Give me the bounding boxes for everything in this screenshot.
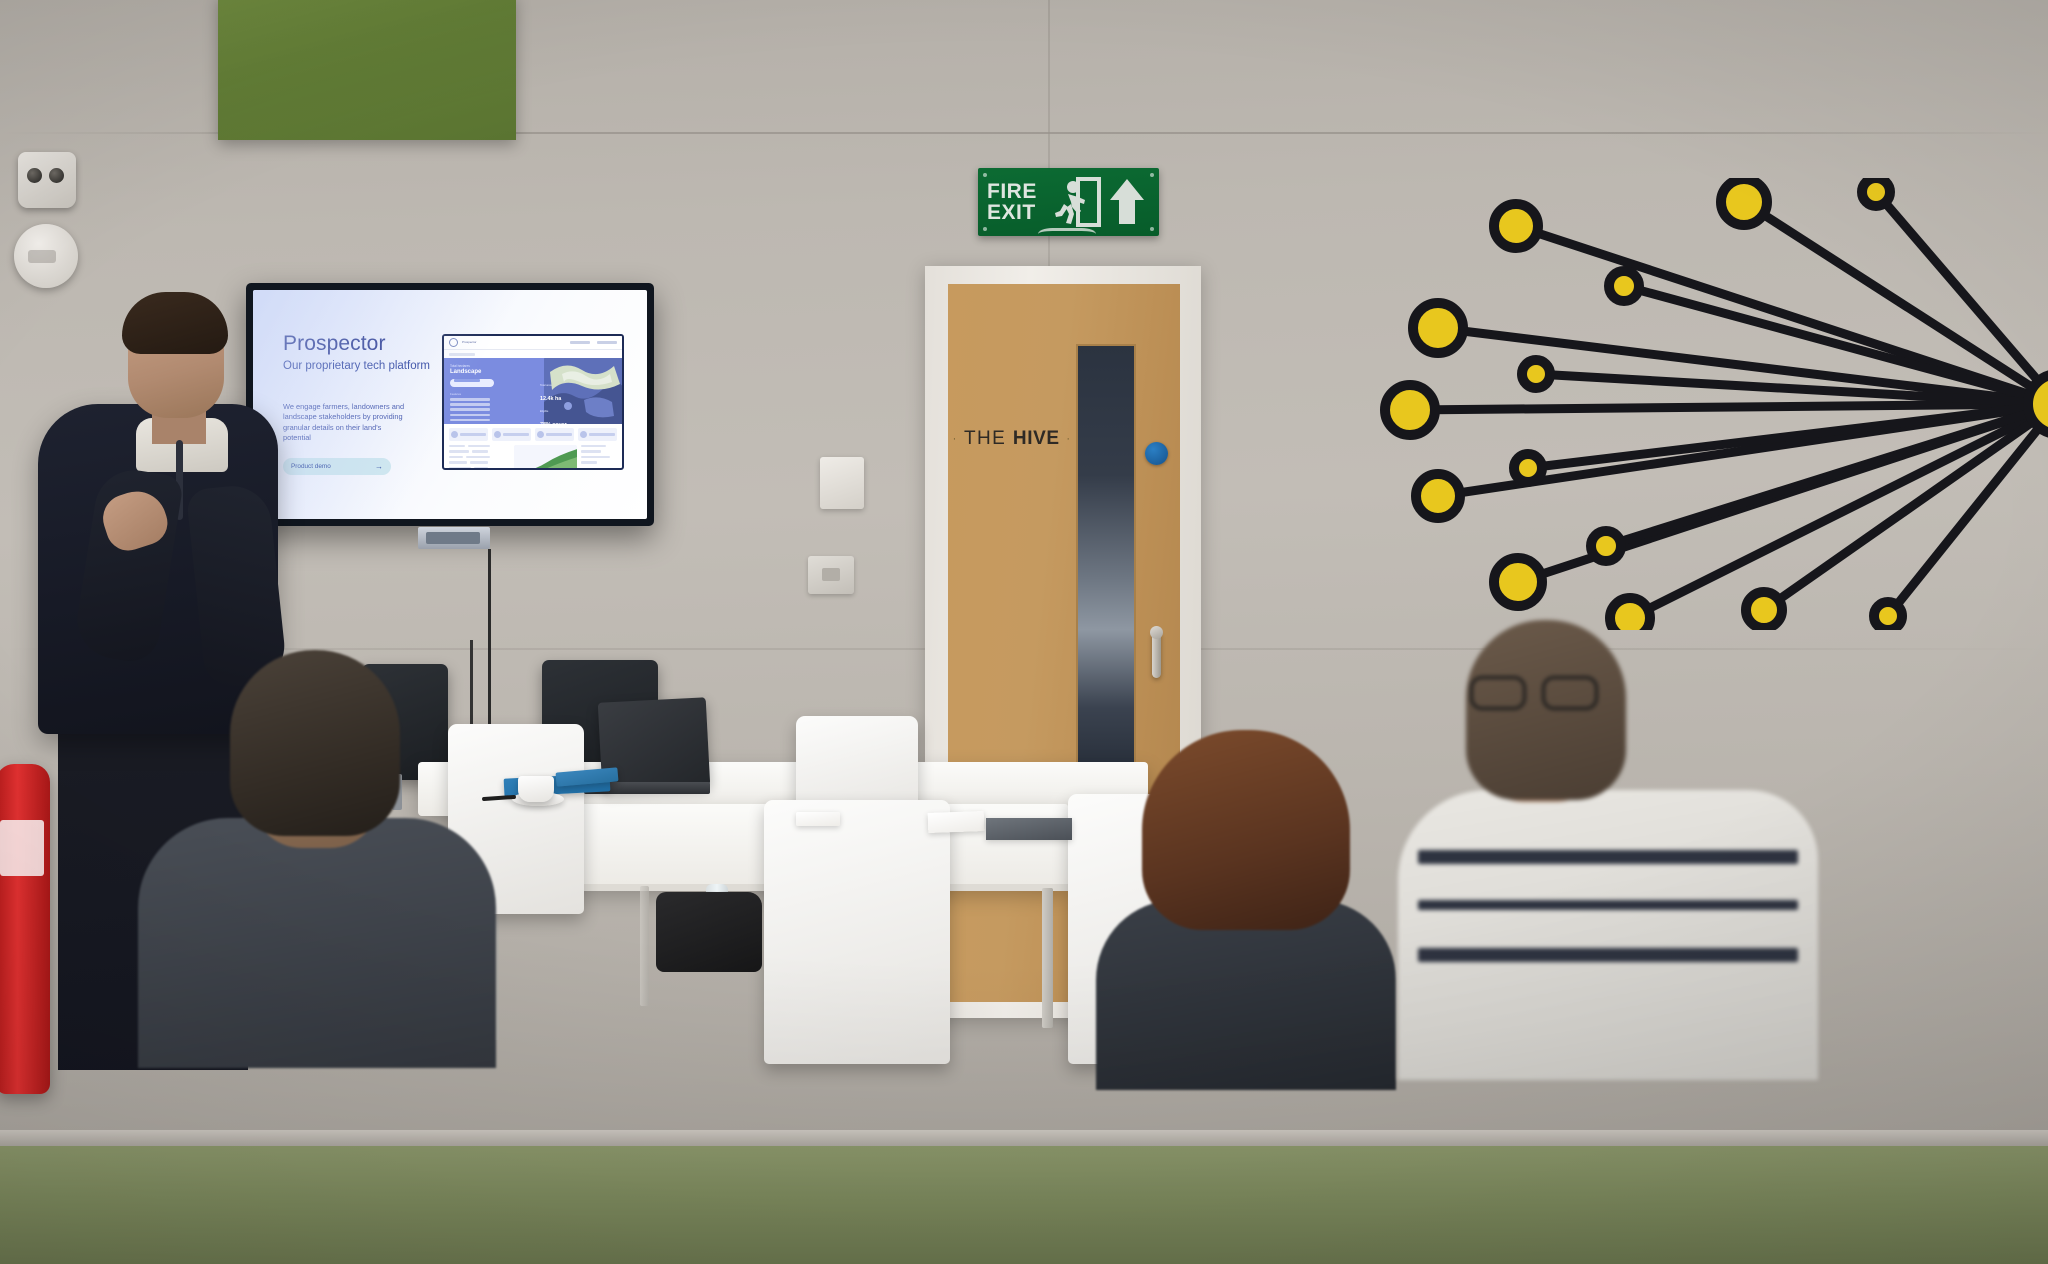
hero-stat-eligible-label: Eligible — [540, 410, 567, 413]
skirting-board — [0, 1130, 2048, 1146]
gauge-icon — [537, 431, 544, 438]
door-vision-panel — [1076, 344, 1136, 778]
app-nav[interactable] — [570, 341, 617, 344]
app-card[interactable] — [535, 428, 574, 441]
app-card[interactable] — [578, 428, 617, 441]
attendee-3-body — [1398, 790, 1818, 1080]
app-topbar: Prospector — [444, 336, 622, 350]
smoke-detector-icon — [14, 224, 78, 288]
white-chair-center-front[interactable] — [764, 800, 950, 1064]
acoustic-wall-panel — [218, 0, 516, 140]
document-icon[interactable] — [796, 812, 840, 826]
hero-stat-total-value: 12.4k ha — [540, 396, 561, 402]
app-bottom-row — [444, 445, 622, 470]
hero-stat-total-label: Total area — [540, 384, 567, 387]
hero-stats: Total area 12.4k ha Eligible 78% cover — [540, 384, 567, 424]
coffee-cup-icon[interactable] — [518, 776, 554, 802]
document-icon-2[interactable] — [928, 811, 985, 833]
running-man-icon — [1049, 174, 1103, 230]
door-label-prefix: THE — [964, 428, 1006, 449]
door-handle[interactable] — [1152, 630, 1161, 678]
hero-kicker: Total hectares — [450, 364, 534, 368]
app-area-chart — [514, 445, 578, 470]
slide-title: Prospector — [283, 332, 386, 356]
door-label-emphasis: HIVE — [1013, 428, 1060, 449]
door-sticker — [1145, 442, 1168, 465]
attendee-1-head — [230, 650, 400, 836]
door-label-dot-right: · — [1066, 433, 1071, 445]
table-leg — [640, 886, 649, 1006]
presentation-slide: Prospector Our proprietary tech platform… — [253, 290, 647, 519]
arrow-right-icon: → — [375, 462, 383, 471]
display-cable — [488, 549, 491, 729]
light-switch-icon[interactable] — [808, 556, 854, 594]
deed-icon — [580, 431, 587, 438]
tag-icon — [451, 431, 458, 438]
slide-body-text: We engage farmers, landowners and landsc… — [283, 402, 411, 444]
carpet-floor — [0, 1144, 2048, 1264]
hero-list-label: Features — [450, 392, 534, 396]
slide-subtitle: Our proprietary tech platform — [283, 360, 430, 372]
presenter-hair — [122, 292, 228, 354]
extinguisher-label — [0, 820, 44, 876]
glasses-icon — [1470, 676, 1598, 706]
app-card-row — [444, 424, 622, 445]
display-cable-2 — [470, 640, 473, 730]
meeting-room-photo: FIRE EXIT · THE HIVE · — [0, 0, 2048, 1264]
wall-control-box-icon[interactable] — [820, 457, 864, 509]
backpack-icon[interactable] — [656, 892, 762, 972]
app-brand: Prospector — [462, 341, 477, 344]
sign-wire — [1038, 228, 1096, 240]
door-label-dot-left: · — [953, 433, 958, 445]
hero-left-column: Total hectares Landscape Features — [450, 364, 534, 424]
door-label: · THE HIVE · — [948, 428, 1076, 450]
app-breadcrumb — [444, 350, 622, 358]
table-leg — [1042, 888, 1053, 1028]
attendee-1-body — [138, 818, 496, 1068]
sunburst-wall-art — [1368, 178, 2048, 630]
app-logo-icon — [449, 338, 458, 347]
app-card[interactable] — [449, 428, 488, 441]
app-screenshot: Prospector — [442, 334, 624, 470]
fire-extinguisher-icon[interactable] — [0, 764, 50, 1094]
attendee-3-head — [1466, 620, 1626, 800]
ceiling-sensor-icon — [18, 152, 76, 208]
hero-feature-list: Features — [450, 392, 534, 421]
tablet-icon[interactable] — [986, 818, 1072, 840]
hero-stat-total: Total area 12.4k ha — [540, 384, 567, 405]
fire-exit-sign: FIRE EXIT — [978, 168, 1159, 236]
hero-stat-eligible-value: 78% cover — [540, 422, 567, 424]
app-card[interactable] — [492, 428, 531, 441]
hero-action-button[interactable] — [450, 379, 494, 387]
product-demo-label: Product demo — [291, 463, 331, 470]
app-side-list — [581, 445, 617, 470]
attendee-2-head — [1142, 730, 1350, 930]
display-wall-mount — [418, 527, 490, 549]
hero-stat-eligible: Eligible 78% cover — [540, 410, 567, 424]
product-demo-button[interactable]: Product demo → — [283, 458, 391, 475]
hero-heading: Landscape — [450, 369, 534, 375]
layers-icon — [494, 431, 501, 438]
wall-mounted-display: Prospector Our proprietary tech platform… — [246, 283, 654, 526]
app-hero-panel: Total hectares Landscape Features Total … — [444, 358, 622, 424]
app-data-table — [449, 445, 510, 470]
